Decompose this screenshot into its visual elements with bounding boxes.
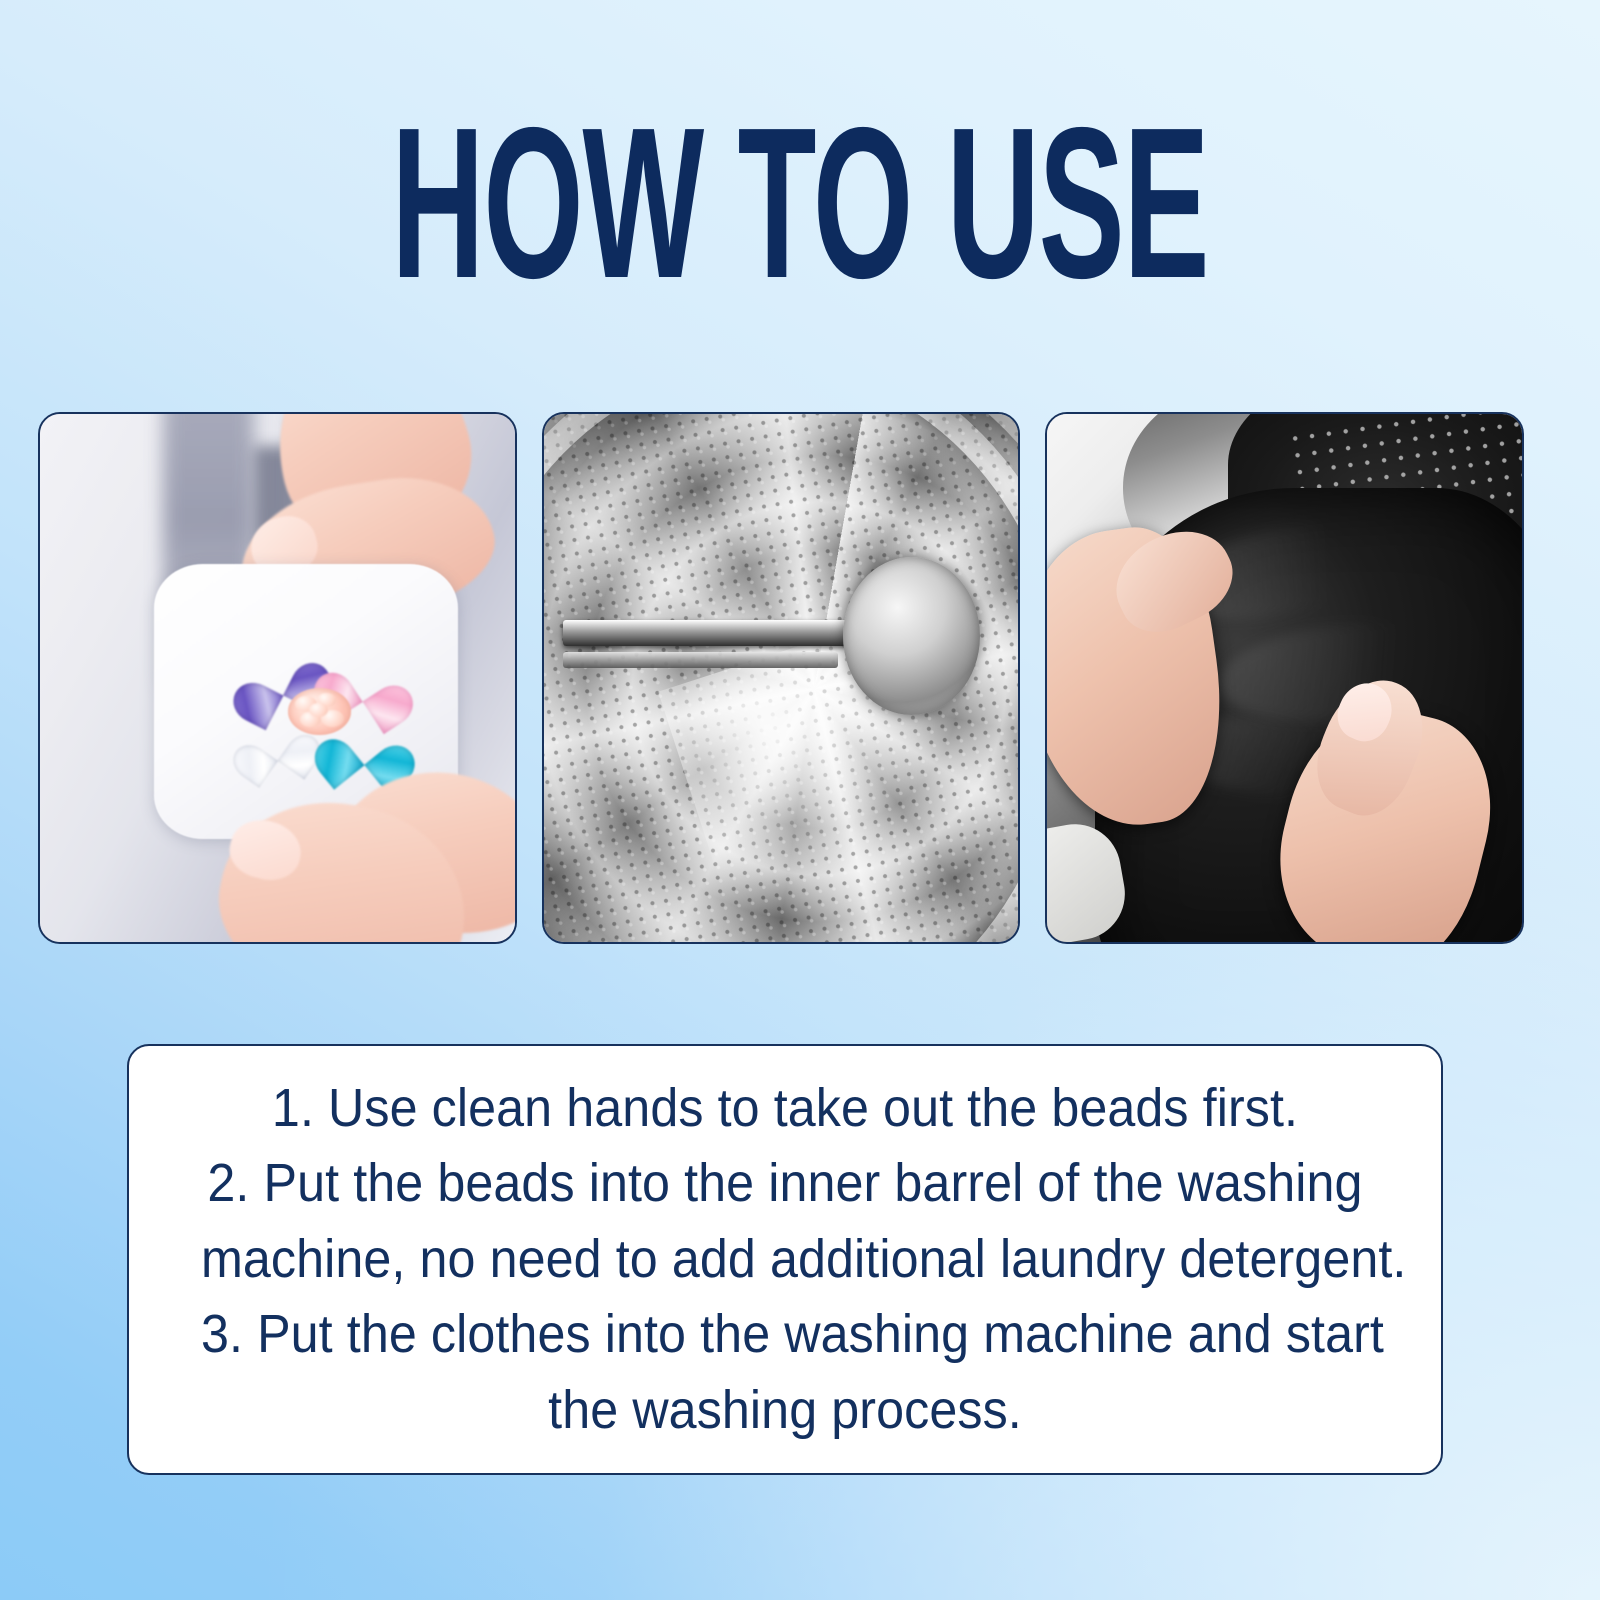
loading-black-clothes-image: [1047, 414, 1522, 942]
photo-card-washing-machine-drum: [542, 412, 1021, 944]
washing-machine-drum-image: [544, 414, 1019, 942]
photo-strip: [38, 412, 1524, 944]
instruction-line: 2. Put the beads into the inner barrel o…: [201, 1146, 1369, 1222]
photo-card-loading-clothes: [1045, 412, 1524, 944]
instruction-line: the washing process.: [201, 1373, 1369, 1449]
instruction-line: machine, no need to add additional laund…: [201, 1222, 1369, 1298]
instruction-line: 3. Put the clothes into the washing mach…: [201, 1297, 1369, 1373]
laundry-bead-pod-image: [40, 414, 515, 942]
page-title: HOW TO USE: [0, 104, 1600, 302]
page-title-text: HOW TO USE: [392, 104, 1209, 302]
scent-beads-cluster: [288, 688, 352, 735]
instructions-card: 1. Use clean hands to take out the beads…: [127, 1044, 1443, 1475]
photo-card-laundry-bead-pod: [38, 412, 517, 944]
how-to-use-infographic: HOW TO USE: [0, 0, 1600, 1600]
instruction-line: 1. Use clean hands to take out the beads…: [201, 1071, 1369, 1147]
drum-outer-ring: [544, 414, 1019, 942]
instructions-text: 1. Use clean hands to take out the beads…: [129, 1071, 1441, 1449]
